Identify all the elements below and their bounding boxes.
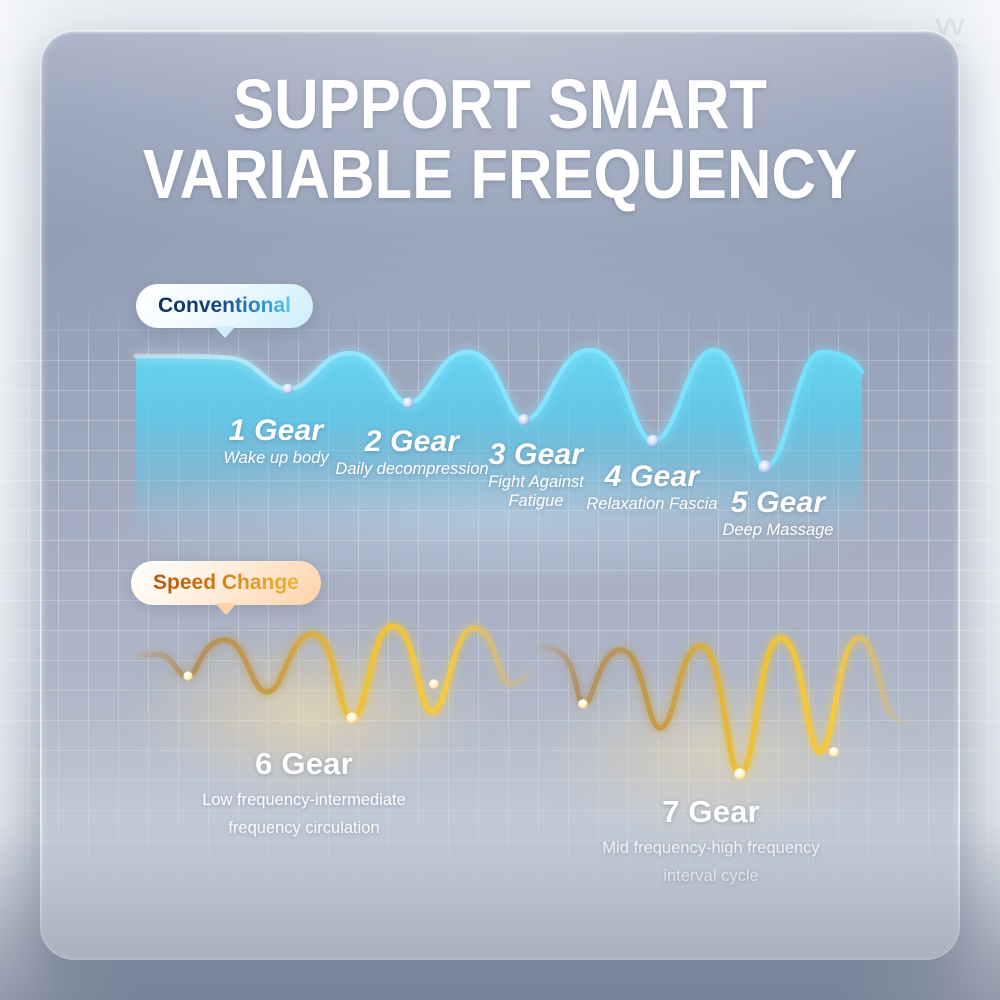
badge-speed-change-pointer (215, 603, 237, 615)
badge-conventional-pointer (214, 326, 236, 338)
feature-card (40, 30, 960, 960)
badge-conventional-label: Conventional (158, 294, 291, 318)
badge-speed-change[interactable]: Speed Change (131, 561, 321, 605)
promo-graphic-page: VV TECH SUPPORT SMART VARIABLE FREQUENCY (0, 0, 1000, 1000)
card-edge-highlight (40, 30, 960, 960)
badge-conventional[interactable]: Conventional (136, 284, 313, 328)
badge-speed-change-label: Speed Change (153, 571, 299, 595)
